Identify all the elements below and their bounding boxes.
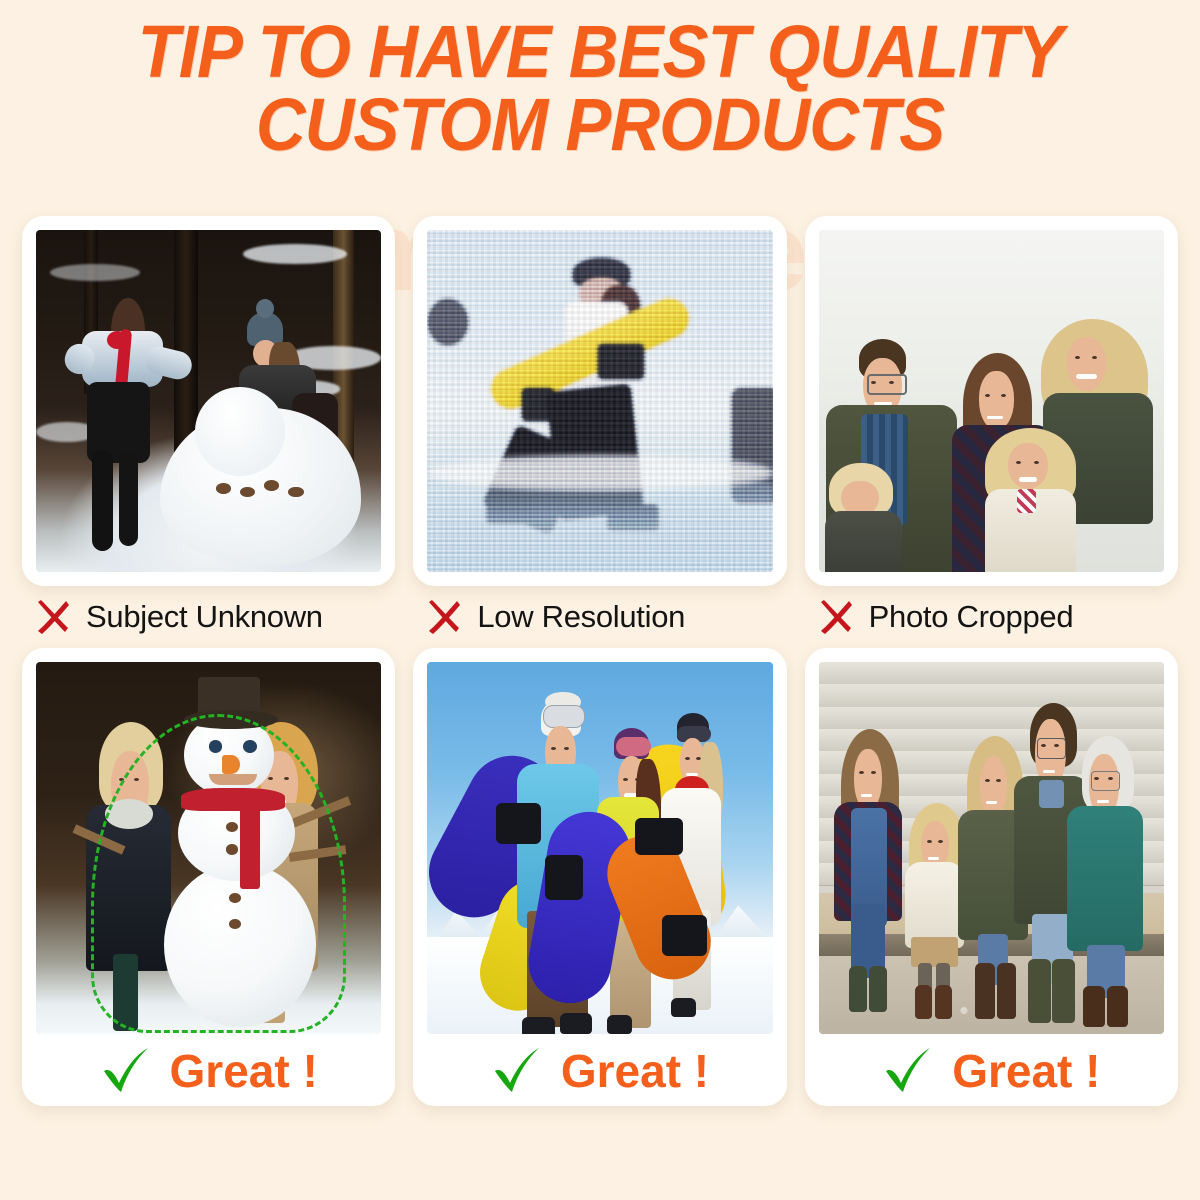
caption-subject-unknown: Subject Unknown <box>22 586 395 648</box>
tips-grid: Subject Unknown <box>0 216 1200 1106</box>
page-title-line-2: CUSTOM PRODUCTS <box>42 89 1158 162</box>
tip-card-great-family: Great ! <box>805 648 1178 1106</box>
page-title-line-1: TIP TO HAVE BEST QUALITY <box>42 16 1158 89</box>
caption-label: Low Resolution <box>477 599 685 635</box>
caption-great-family: Great ! <box>819 1036 1164 1106</box>
caption-great-snowman: Great ! <box>36 1036 381 1106</box>
photo-card: Great ! <box>805 648 1178 1106</box>
caption-photo-cropped: Photo Cropped <box>805 586 1178 648</box>
photo-photo-cropped <box>819 230 1164 572</box>
caption-label: Photo Cropped <box>869 599 1074 635</box>
photo-card: Great ! <box>413 648 786 1106</box>
photo-great-snowman <box>36 662 381 1034</box>
photo-low-resolution <box>427 230 772 572</box>
tip-card-photo-cropped: Photo Cropped <box>805 216 1178 648</box>
caption-label: Great ! <box>952 1044 1100 1098</box>
caption-great-snowboarders: Great ! <box>427 1036 772 1106</box>
photo-card <box>413 216 786 586</box>
caption-label: Great ! <box>170 1044 318 1098</box>
tip-card-great-snowman: Great ! <box>22 648 395 1106</box>
photo-card <box>22 216 395 586</box>
photo-great-family <box>819 662 1164 1034</box>
caption-low-resolution: Low Resolution <box>413 586 786 648</box>
tip-card-low-resolution: Low Resolution <box>413 216 786 648</box>
green-check-icon <box>882 1045 934 1097</box>
photo-subject-unknown <box>36 230 381 572</box>
caption-label: Subject Unknown <box>86 599 323 635</box>
photo-great-snowboarders <box>427 662 772 1034</box>
tip-card-subject-unknown: Subject Unknown <box>22 216 395 648</box>
page-title: TIP TO HAVE BEST QUALITY CUSTOM PRODUCTS <box>0 16 1200 161</box>
photo-card <box>805 216 1178 586</box>
green-check-icon <box>100 1045 152 1097</box>
red-x-icon <box>32 597 72 637</box>
infographic-page: macorner TIP TO HAVE BEST QUALITY CUSTOM… <box>0 0 1200 1200</box>
tip-card-great-snowboarders: Great ! <box>413 648 786 1106</box>
photo-card: Great ! <box>22 648 395 1106</box>
red-x-icon <box>423 597 463 637</box>
green-check-icon <box>491 1045 543 1097</box>
red-x-icon <box>815 597 855 637</box>
caption-label: Great ! <box>561 1044 709 1098</box>
